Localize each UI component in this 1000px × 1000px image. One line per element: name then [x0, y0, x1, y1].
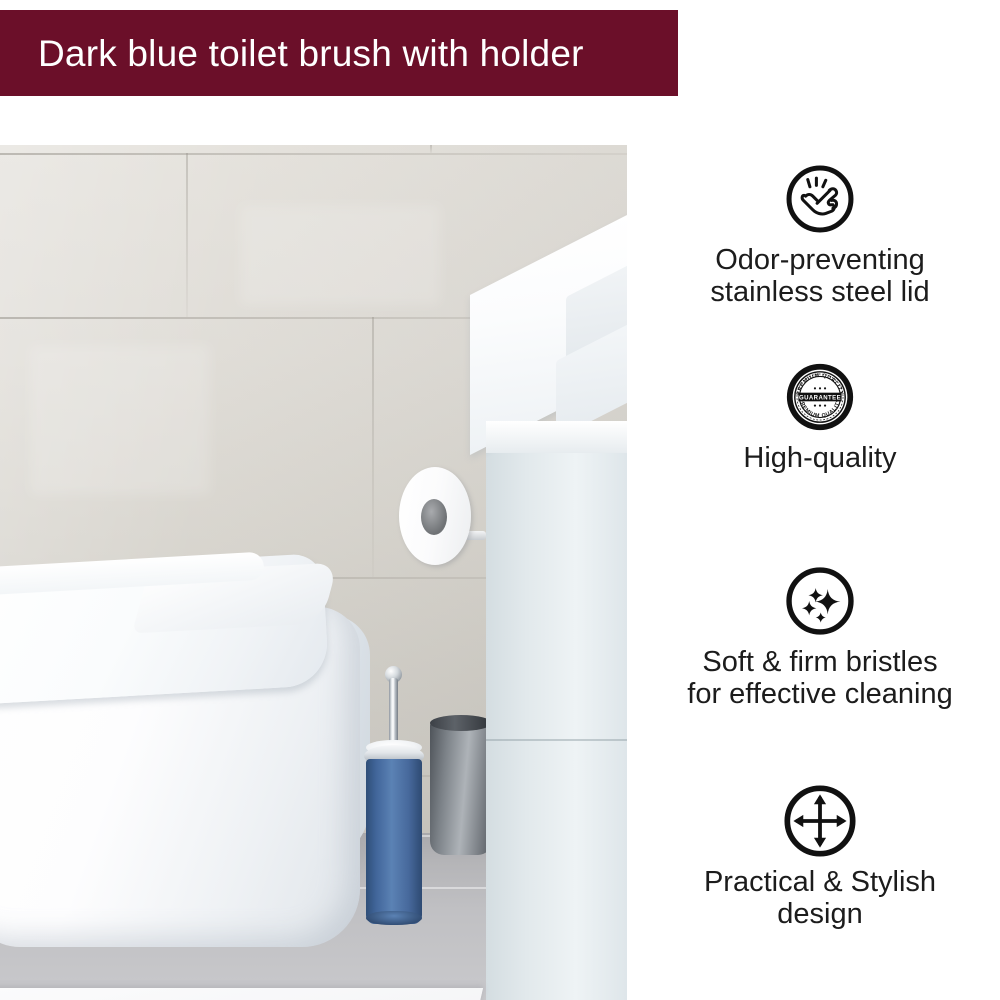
bath-mat — [0, 988, 483, 1000]
svg-text:GUARANTEE: GUARANTEE — [799, 395, 841, 401]
feature-label: Soft & firm bristles for effective clean… — [640, 646, 1000, 711]
header-banner: Dark blue toilet brush with holder — [0, 10, 678, 96]
vanity-countertop-edge — [486, 421, 627, 453]
wall-tile-seam — [186, 153, 188, 317]
vanity-cabinet-seam — [486, 739, 627, 741]
toilet-brush-holder — [366, 759, 422, 924]
feature-icon-wrapper — [640, 562, 1000, 640]
feature-label: High-quality — [640, 442, 1000, 474]
feature-label: Odor-preventing stainless steel lid — [640, 244, 1000, 309]
toilet-brush-holder-base — [366, 911, 422, 925]
wall-tile-seam — [372, 317, 374, 577]
four-way-arrows-icon — [782, 783, 858, 859]
page-title: Dark blue toilet brush with holder — [0, 35, 584, 72]
feature-item-high-quality: PREMIUM QUALITY PREMIUM QUALITY GUARANTE… — [640, 358, 1000, 474]
feature-icon-wrapper — [640, 782, 1000, 860]
feature-list: Odor-preventing stainless steel lid PREM… — [640, 150, 1000, 990]
feature-item-practical-stylish: Practical & Stylish design — [640, 782, 1000, 931]
wall-tile-seam — [430, 145, 432, 153]
feature-item-bristles: Soft & firm bristles for effective clean… — [640, 562, 1000, 711]
vanity-cabinet — [486, 445, 627, 1000]
toilet-paper-core — [421, 499, 447, 535]
wall-highlight — [30, 345, 210, 495]
feature-icon-wrapper: PREMIUM QUALITY PREMIUM QUALITY GUARANTE… — [640, 358, 1000, 436]
product-photo — [0, 145, 627, 1000]
waste-bin — [430, 720, 492, 855]
premium-quality-guarantee-seal-icon: PREMIUM QUALITY PREMIUM QUALITY GUARANTE… — [784, 361, 856, 433]
waste-bin-rim — [430, 715, 492, 731]
feature-icon-wrapper — [640, 160, 1000, 238]
feature-label: Practical & Stylish design — [640, 866, 1000, 931]
wall-tile-seam — [0, 153, 627, 155]
snap-fingers-icon — [784, 163, 856, 235]
sparkles-icon — [784, 565, 856, 637]
feature-item-odor-preventing: Odor-preventing stainless steel lid — [640, 160, 1000, 309]
wall-highlight — [240, 205, 440, 305]
